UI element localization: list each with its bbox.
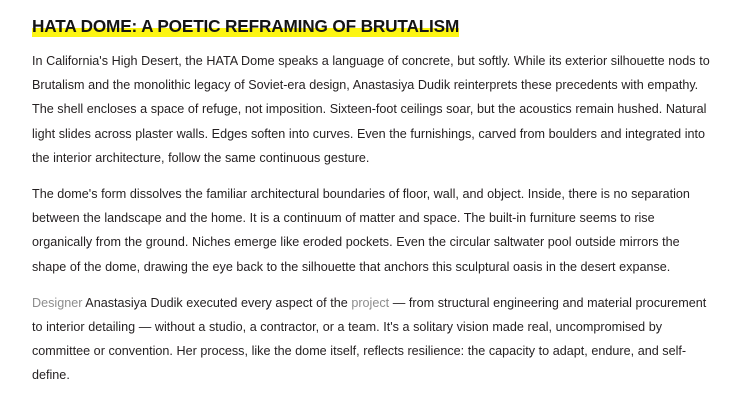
paragraph-2: The dome's form dissolves the familiar a… <box>32 182 710 279</box>
paragraph-3: Designer Anastasiya Dudik executed every… <box>32 291 710 388</box>
page-title: HATA DOME: A POETIC REFRAMING OF BRUTALI… <box>32 14 710 38</box>
document-body: In California's High Desert, the HATA Do… <box>32 49 710 388</box>
designer-label: Designer <box>32 296 82 310</box>
project-label: project <box>351 296 389 310</box>
paragraph-1: In California's High Desert, the HATA Do… <box>32 49 710 170</box>
document-page: HATA DOME: A POETIC REFRAMING OF BRUTALI… <box>0 0 755 400</box>
page-title-highlight: HATA DOME: A POETIC REFRAMING OF BRUTALI… <box>32 16 459 37</box>
paragraph-3-segment-1: Anastasiya Dudik executed every aspect o… <box>82 296 351 310</box>
